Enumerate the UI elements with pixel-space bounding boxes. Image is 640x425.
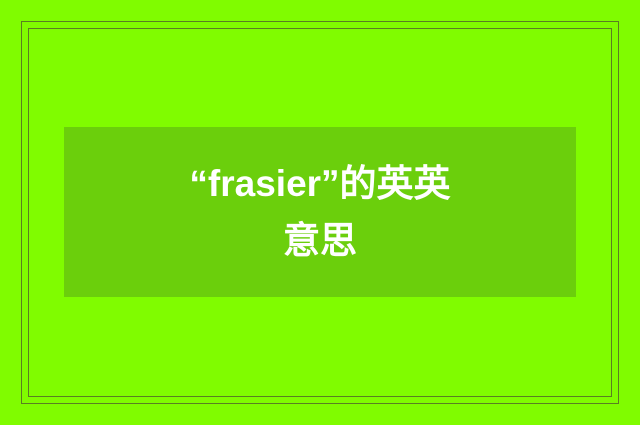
title-panel: “frasier”的英英意思: [64, 127, 576, 297]
page-title: “frasier”的英英意思: [184, 155, 456, 269]
thumbnail-canvas: “frasier”的英英意思: [0, 0, 640, 425]
